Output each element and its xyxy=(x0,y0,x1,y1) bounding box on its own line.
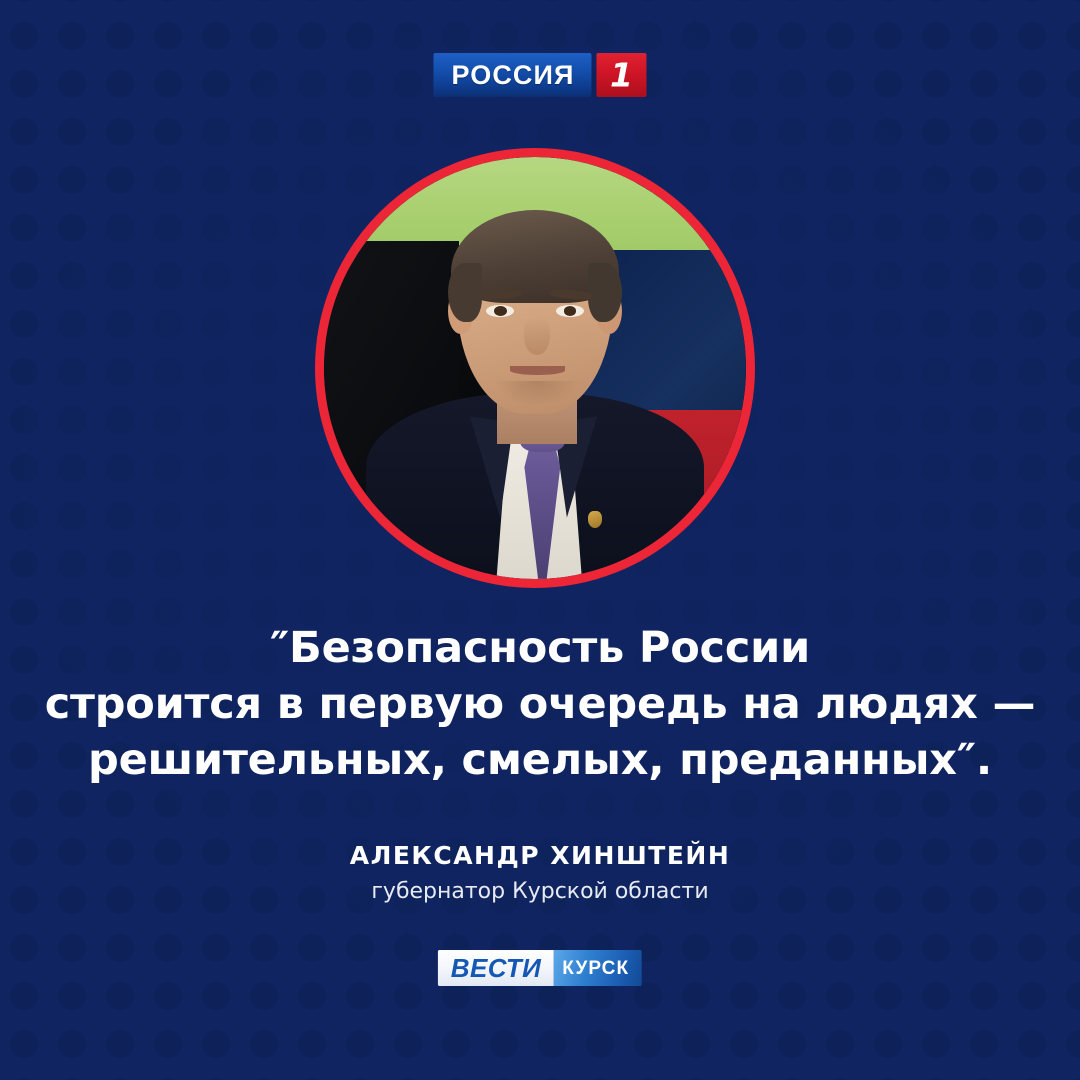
quote-line-3: решительных, смелых, преданных″. xyxy=(0,732,1080,788)
portrait-avatar xyxy=(315,148,755,588)
hair-side-right xyxy=(588,263,622,322)
quote-card: РОССИЯ 1 xyxy=(0,0,1080,1080)
nose xyxy=(524,317,549,355)
channel-name-label: РОССИЯ xyxy=(451,62,574,89)
chin-shadow xyxy=(493,381,582,406)
kursk-label: КУРСК xyxy=(562,959,629,978)
quote-line-1: ″Безопасность России xyxy=(0,620,1080,676)
quote-attribution: АЛЕКСАНДР ХИНШТЕЙН губернатор Курской об… xyxy=(0,840,1080,908)
channel-number-box: 1 xyxy=(597,53,647,97)
quote-line-2: строится в первую очередь на людях — xyxy=(0,676,1080,732)
channel-number-label: 1 xyxy=(597,59,647,92)
quote-text: ″Безопасность России строится в первую о… xyxy=(0,620,1080,788)
portrait-subject xyxy=(324,157,746,579)
vesti-label: ВЕСТИ xyxy=(451,955,542,981)
rossiya-1-channel-logo: РОССИЯ 1 xyxy=(433,53,646,97)
hair-side-left xyxy=(448,263,482,322)
channel-name-box: РОССИЯ xyxy=(433,53,591,97)
attribution-role: губернатор Курской области xyxy=(0,876,1080,908)
vesti-kursk-logo: ВЕСТИ КУРСК xyxy=(438,950,642,986)
portrait-photo xyxy=(324,157,746,579)
attribution-name: АЛЕКСАНДР ХИНШТЕЙН xyxy=(0,840,1080,872)
kursk-name-box: КУРСК xyxy=(553,950,642,986)
vesti-name-box: ВЕСТИ xyxy=(438,950,554,986)
